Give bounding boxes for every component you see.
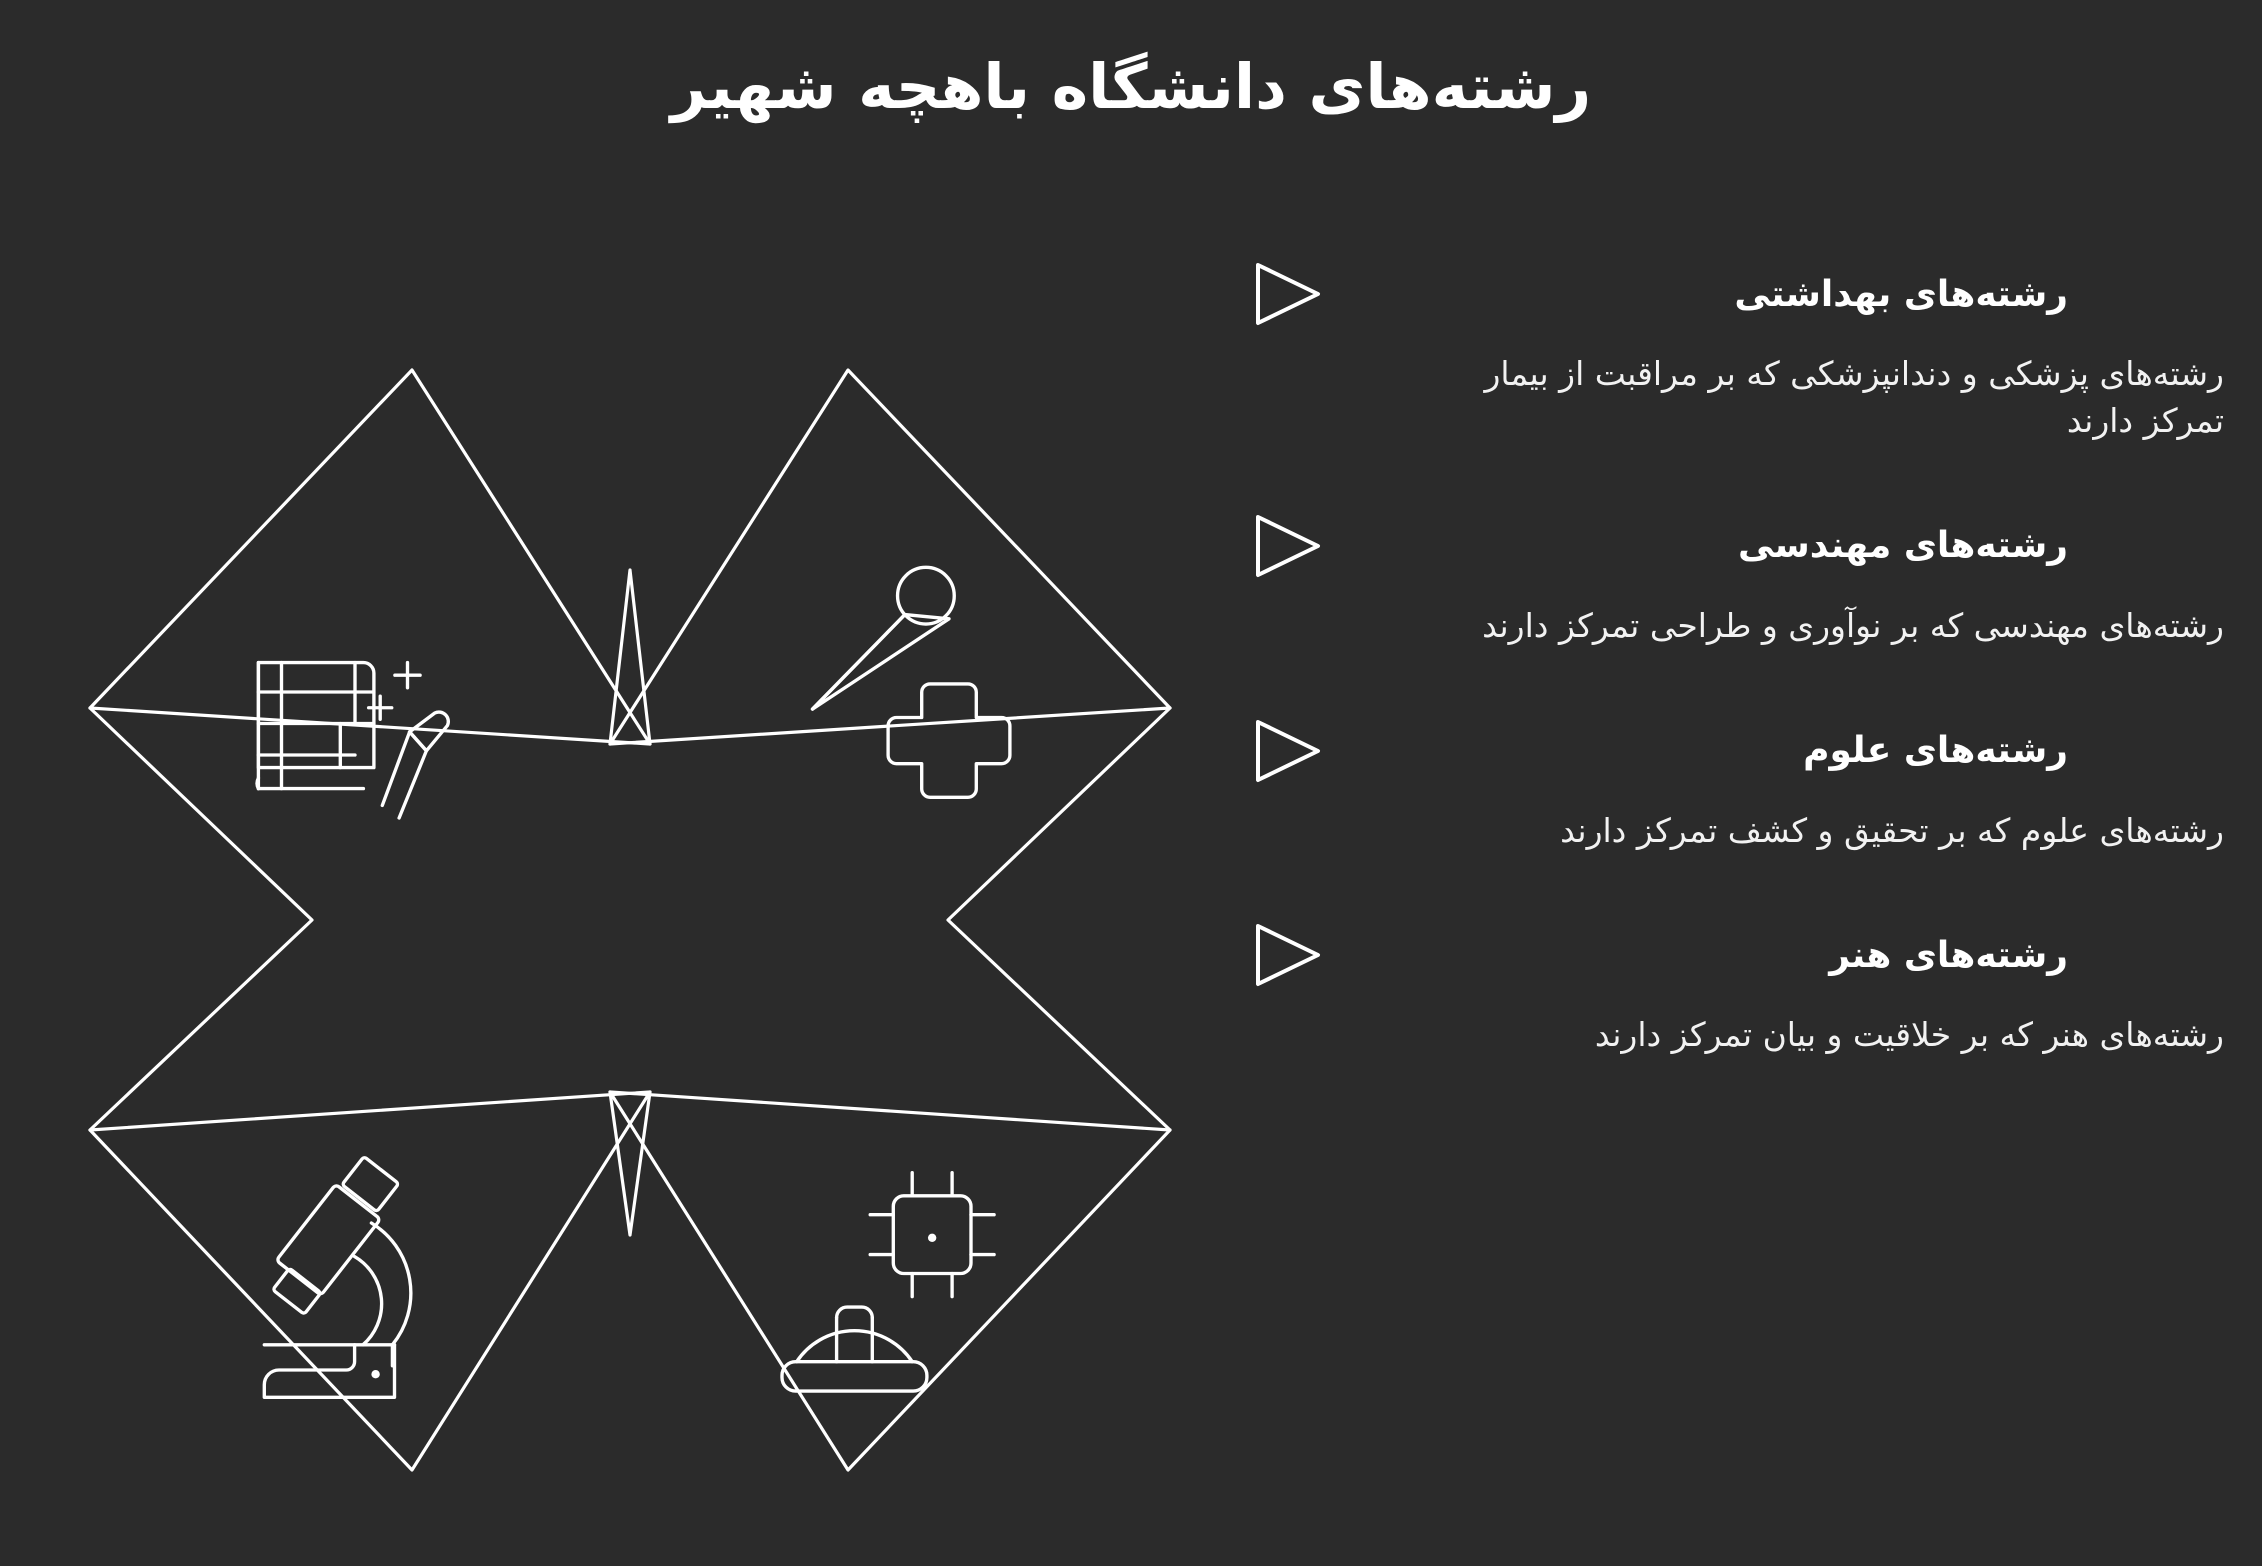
list-item[interactable]: رشته‌های هنر رشته‌های هنر که بر خلاقیت و… <box>1242 916 2262 1059</box>
slide-root: رشته‌های دانشگاه باهچه شهیر <box>0 0 2262 1566</box>
microscope-icon <box>264 1157 411 1398</box>
list-item-header[interactable]: رشته‌های هنر <box>1242 916 2262 994</box>
pinwheel-graphic <box>40 330 1220 1510</box>
list-item-header[interactable]: رشته‌های علوم <box>1242 712 2262 790</box>
list-item-header[interactable]: رشته‌های مهندسی <box>1242 507 2262 585</box>
list-item-header[interactable]: رشته‌های بهداشتی <box>1242 255 2262 333</box>
petal-top-left-triangle <box>90 370 650 744</box>
play-triangle-icon <box>1242 916 1324 994</box>
list-item-description: رشته‌های مهندسی که بر نوآوری و طراحی تمر… <box>1480 603 2262 650</box>
categories-list: رشته‌های بهداشتی رشته‌های پزشکی و دندانپ… <box>1242 255 2262 1121</box>
list-item-description: رشته‌های هنر که بر خلاقیت و بیان تمرکز د… <box>1480 1012 2262 1059</box>
hardhat-and-microchip-icon <box>782 1173 994 1391</box>
play-triangle-icon <box>1242 255 1324 333</box>
list-item-title: رشته‌های بهداشتی <box>1324 274 2106 315</box>
play-triangle-icon <box>1242 507 1324 585</box>
sparkle-icon <box>369 663 420 720</box>
petal-top-right-triangle <box>610 370 1170 744</box>
petal-bottom-left-triangle <box>90 1092 650 1470</box>
petal-bottom-right-triangle <box>610 1092 1170 1470</box>
list-item[interactable]: رشته‌های علوم رشته‌های علوم که بر تحقیق … <box>1242 712 2262 855</box>
list-item-title: رشته‌های مهندسی <box>1324 525 2106 566</box>
list-item-description: رشته‌های پزشکی و دندانپزشکی که بر مراقبت… <box>1462 351 2262 445</box>
list-item-title: رشته‌های علوم <box>1324 730 2106 771</box>
play-triangle-icon <box>1242 712 1324 790</box>
list-item[interactable]: رشته‌های مهندسی رشته‌های مهندسی که بر نو… <box>1242 507 2262 650</box>
syringe-and-medical-cross-icon <box>813 567 1010 797</box>
palette-and-brush-icon <box>257 663 448 818</box>
list-item-description: رشته‌های علوم که بر تحقیق و کشف تمرکز دا… <box>1480 808 2262 855</box>
list-item[interactable]: رشته‌های بهداشتی رشته‌های پزشکی و دندانپ… <box>1242 255 2262 445</box>
list-item-title: رشته‌های هنر <box>1324 935 2106 976</box>
page-title: رشته‌های دانشگاه باهچه شهیر <box>0 48 2262 126</box>
